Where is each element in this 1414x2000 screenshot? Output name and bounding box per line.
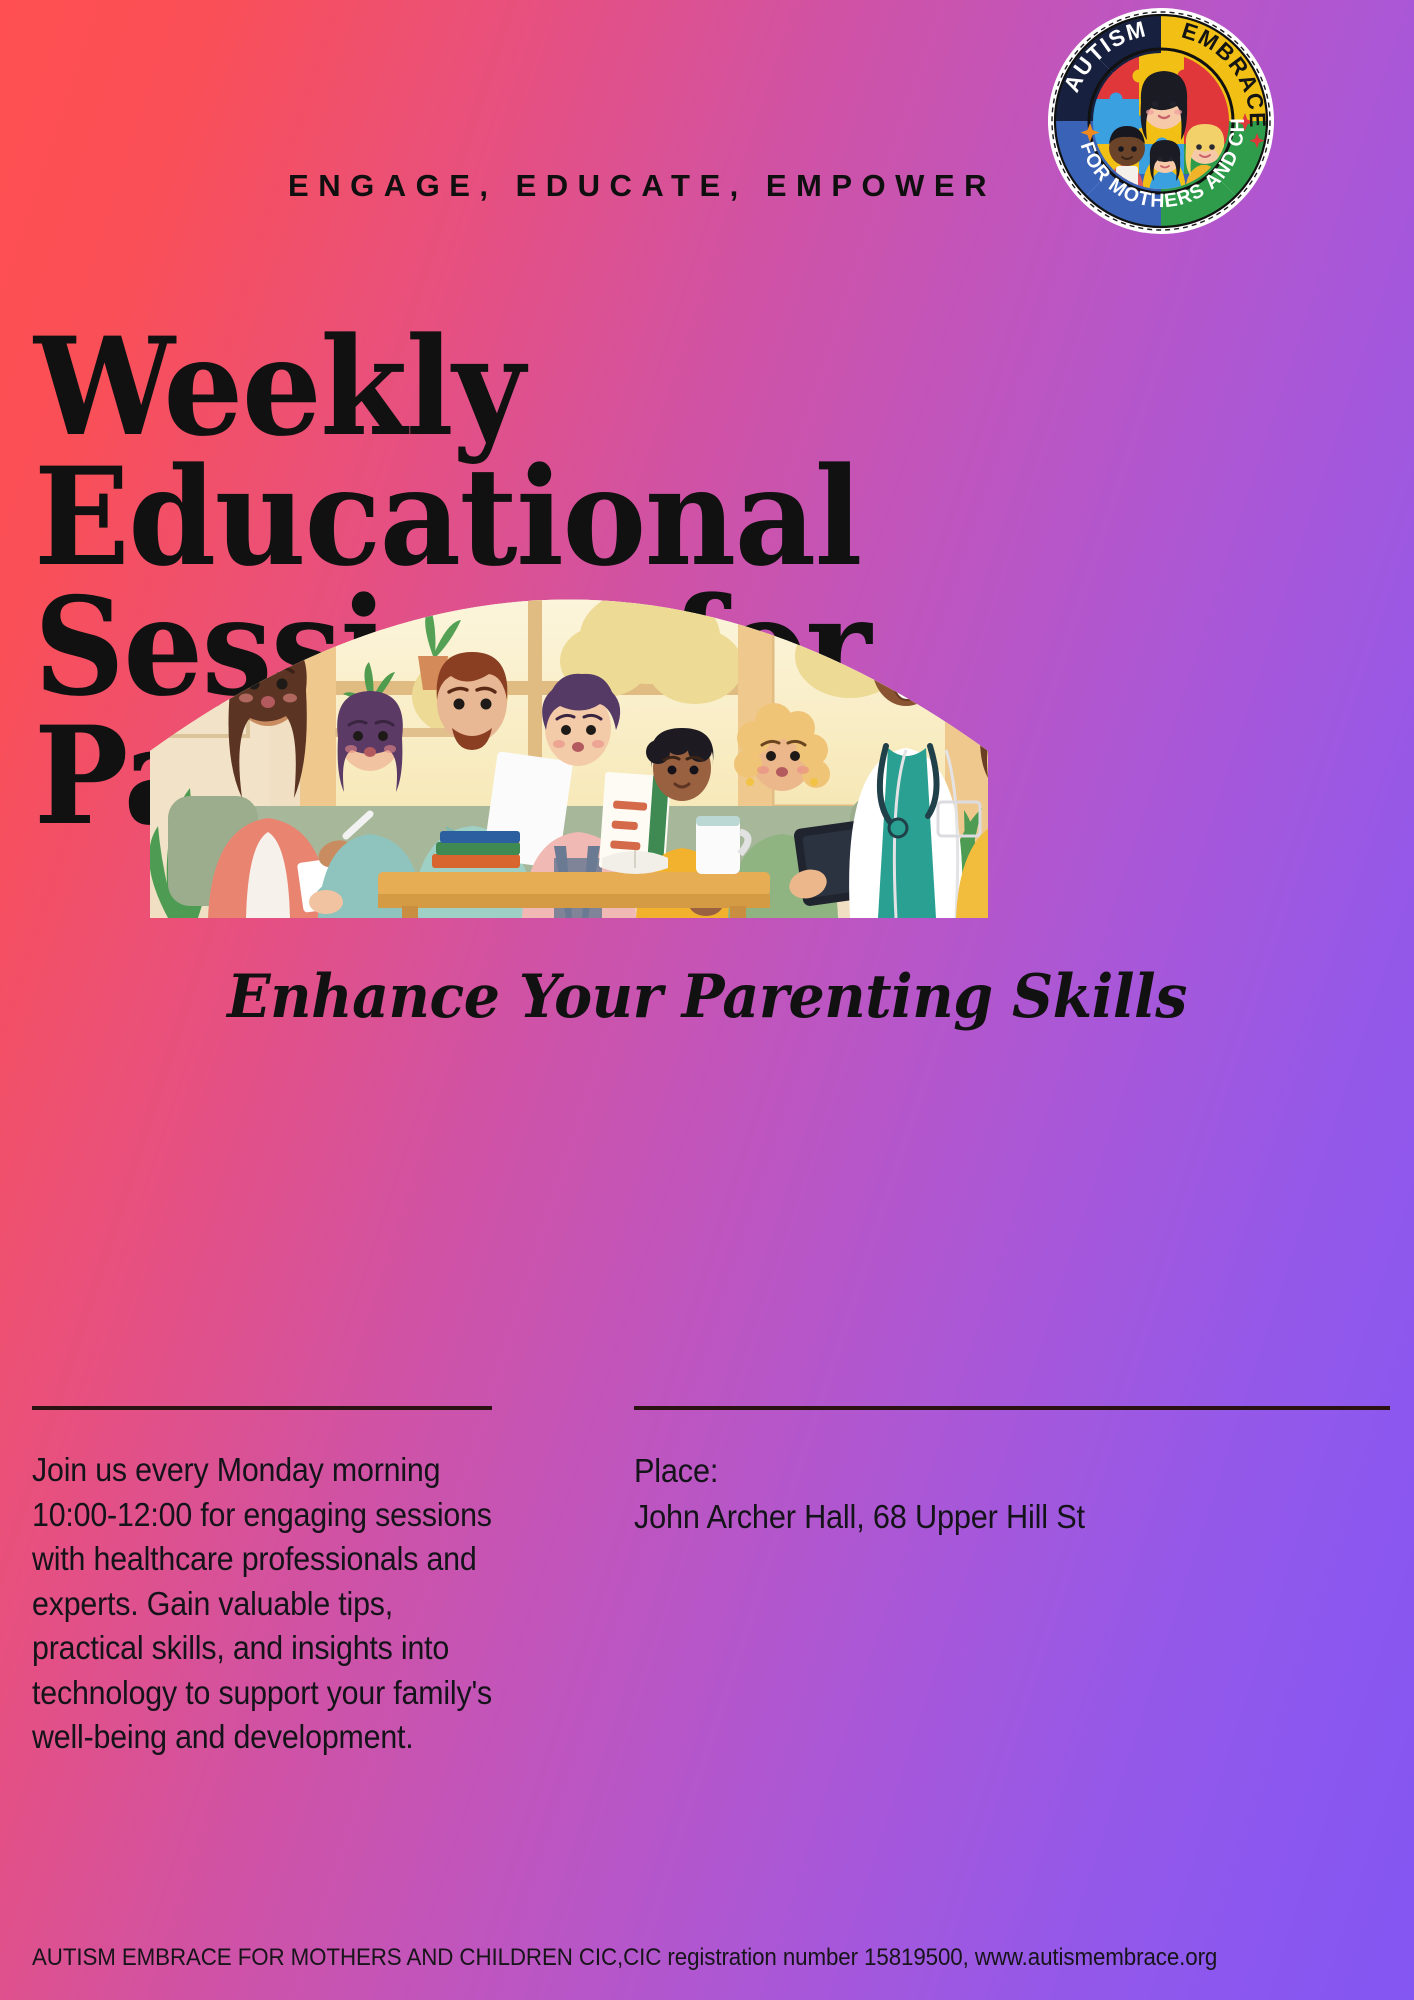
kicker-text: ENGAGE, EDUCATE, EMPOWER xyxy=(0,168,1414,204)
illustration-artwork xyxy=(150,506,988,918)
footer-legal-text: AUTISM EMBRACE FOR MOTHERS AND CHILDREN … xyxy=(32,1944,1362,1972)
subtitle-text: Enhance Your Parenting Skills xyxy=(35,962,1378,1032)
body-paragraph: Join us every Monday morning 10:00-12:00… xyxy=(32,1448,510,1760)
details-column-left: Join us every Monday morning 10:00-12:00… xyxy=(32,1448,502,1760)
details-column-right: Place: John Archer Hall, 68 Upper Hill S… xyxy=(634,1448,1304,1540)
place-label: Place: xyxy=(634,1448,1304,1494)
session-illustration xyxy=(150,506,988,918)
place-value: John Archer Hall, 68 Upper Hill St xyxy=(634,1494,1304,1540)
divider-right xyxy=(634,1406,1390,1410)
divider-left xyxy=(32,1406,492,1410)
poster-canvas: AUTISM EMBRACE FOR MOTHERS AND CHILDREN … xyxy=(0,0,1414,2000)
